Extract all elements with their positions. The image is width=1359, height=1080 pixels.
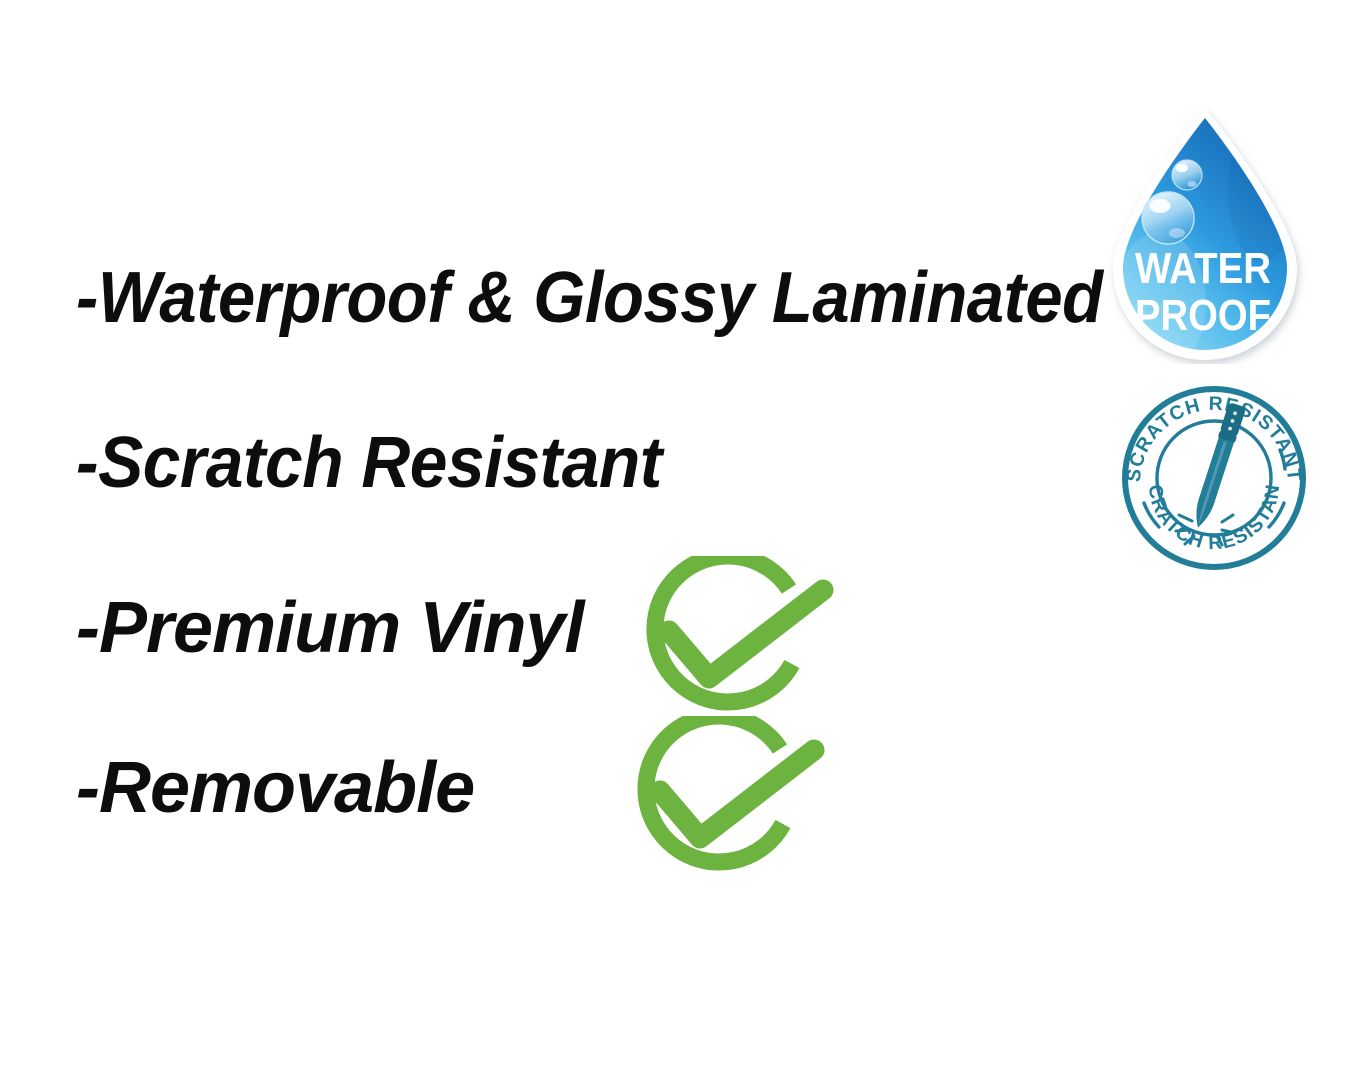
- water-bubble-small: [1172, 160, 1202, 190]
- product-feature-graphic: -Waterproof & Glossy Laminated -Scratch …: [0, 0, 1359, 1080]
- waterproof-droplet-icon: WATER PROOF: [1102, 102, 1308, 364]
- knife-bevel: [1196, 441, 1226, 527]
- feature-item-premium-vinyl: -Premium Vinyl: [76, 592, 583, 664]
- feature-item-scratch-resistant: -Scratch Resistant: [76, 427, 662, 499]
- scratch-resistant-badge: SCRATCH RESISTANT SCRATCH RESISTANT: [1118, 384, 1310, 572]
- waterproof-badge: WATER PROOF: [1102, 102, 1308, 364]
- feature-item-removable: -Removable: [76, 752, 474, 824]
- waterproof-text-line2: PROOF: [1135, 291, 1271, 340]
- green-check-icon: [637, 556, 837, 716]
- scratch-resistant-stamp-icon: SCRATCH RESISTANT SCRATCH RESISTANT: [1118, 384, 1310, 572]
- check-tick: [660, 750, 814, 838]
- green-check-icon: [628, 716, 828, 876]
- water-bubble-large: [1142, 192, 1194, 244]
- check-tick: [669, 590, 823, 678]
- feature-item-waterproof-glossy-laminated: -Waterproof & Glossy Laminated: [76, 262, 1103, 334]
- check-circle-premium-vinyl: [637, 556, 837, 716]
- waterproof-text-line1: WATER: [1135, 244, 1271, 293]
- check-circle-removable: [628, 716, 828, 876]
